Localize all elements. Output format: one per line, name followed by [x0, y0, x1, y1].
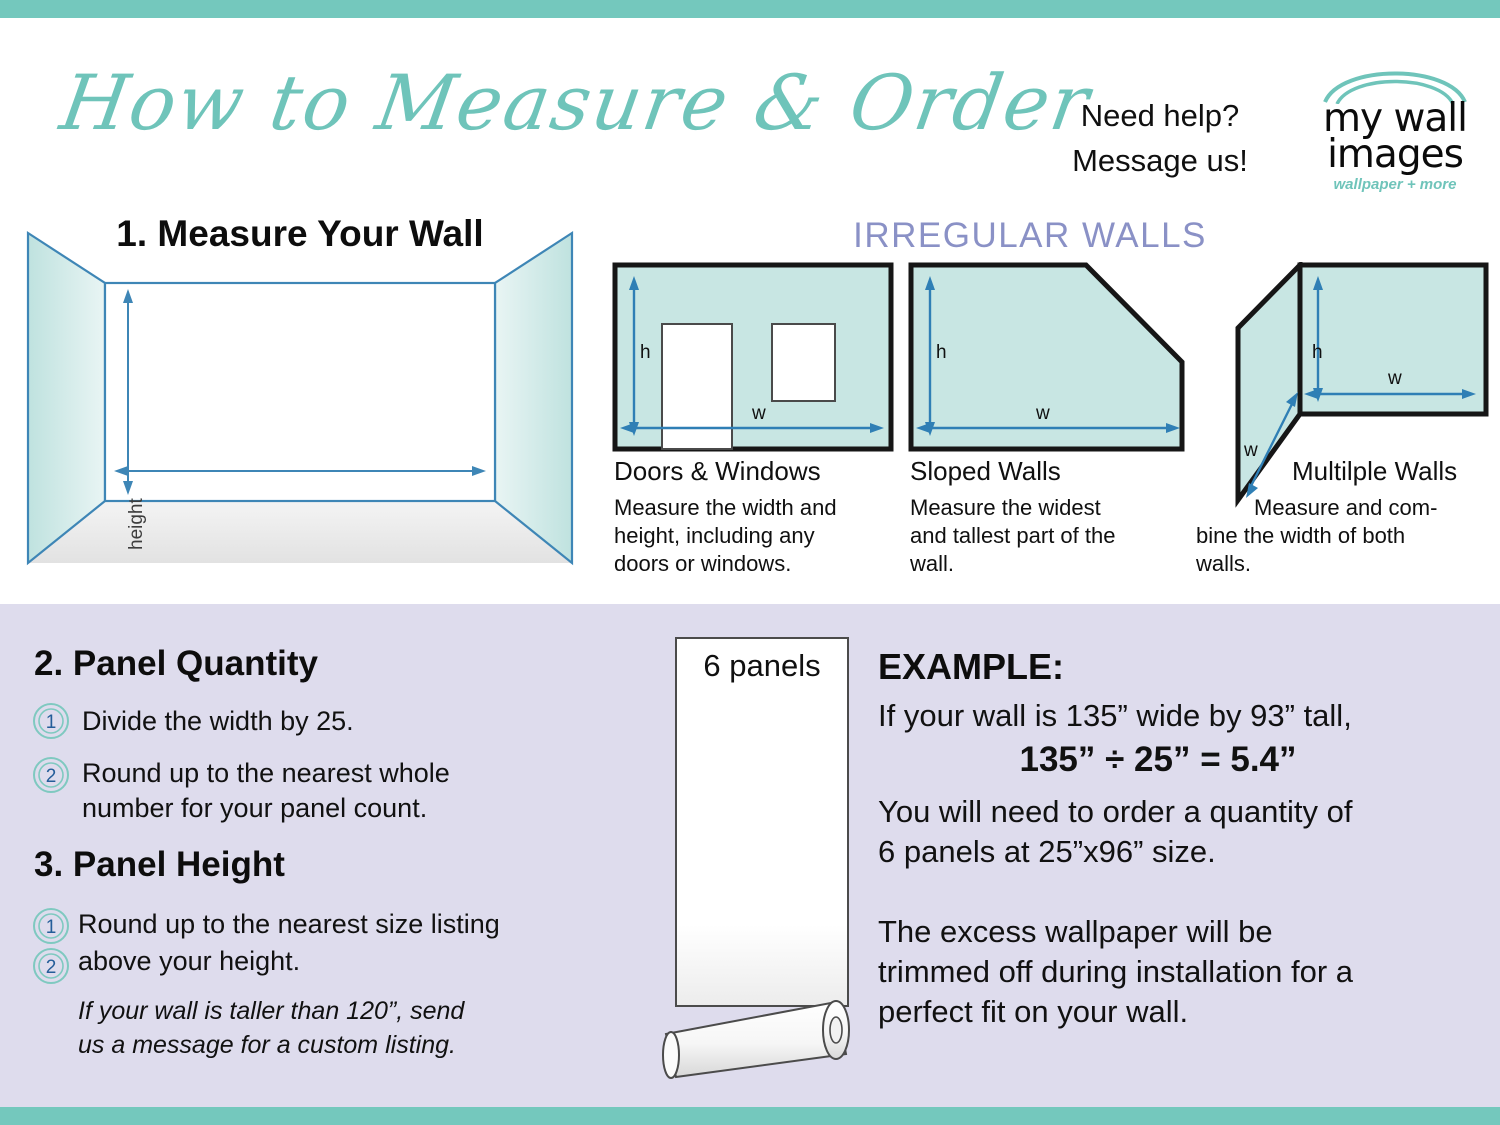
need-help-line-1: Need help? [1040, 93, 1280, 138]
irregular-item-sloped-walls: h w Sloped Walls Measure the widest and … [908, 262, 1190, 457]
svg-text:2: 2 [46, 766, 57, 787]
doors-windows-desc-line-3: doors or windows. [614, 550, 896, 578]
svg-text:2: 2 [46, 957, 57, 978]
step-number-circle-icon: 1 [32, 702, 70, 740]
doors-windows-desc-line-2: height, including any [614, 522, 896, 550]
irregular-walls-heading: IRREGULAR WALLS [700, 216, 1360, 256]
roll-panel-count-label: 6 panels [672, 648, 852, 684]
wallpaper-roll-graphic [660, 634, 880, 1079]
multiple-walls-name: Multilple Walls [1292, 456, 1457, 487]
multiple-walls-desc-line-3: walls. [1196, 550, 1500, 578]
step-number-circle-icon: 2 [32, 756, 70, 794]
doors-windows-w-label: w [752, 403, 766, 425]
irregular-item-multiple-walls: h w w Multilple Walls Measure and com- b… [1196, 262, 1496, 517]
sloped-walls-desc: Measure the widest and tallest part of t… [910, 494, 1200, 578]
room-perspective-diagram [8, 223, 592, 573]
panel-height-step-1: Round up to the nearest size listing [78, 907, 638, 942]
brand-logo: my wall images wallpaper + more [1305, 60, 1485, 208]
multiple-walls-desc: Measure and com- bine the width of both … [1254, 494, 1500, 578]
measure-wall-section: 1. Measure Your Wall height width Measur… [0, 205, 600, 600]
example-line-1: If your wall is 135” wide by 93” tall, [878, 696, 1478, 736]
doors-windows-name: Doors & Windows [614, 456, 821, 487]
panel-height-note-line-1: If your wall is taller than 120”, send [78, 994, 638, 1028]
need-help-text: Need help? Message us! [1040, 93, 1280, 183]
section1-title: 1. Measure Your Wall [0, 213, 600, 255]
step-number-circle-icon: 2 [32, 947, 70, 985]
multiple-walls-w-side-label: w [1244, 440, 1258, 462]
sloped-walls-w-label: w [1036, 403, 1050, 425]
panel-quantity-step-2-line-2: number for your panel count. [82, 791, 622, 826]
page-title: How to Measure & Order [55, 58, 1029, 147]
doors-windows-desc-line-1: Measure the width and [614, 494, 896, 522]
lower-panel: 2. Panel Quantity 1 Divide the width by … [0, 604, 1500, 1107]
step-number-circle-icon: 1 [32, 907, 70, 945]
top-accent-bar [0, 0, 1500, 18]
panel-height-note: If your wall is taller than 120”, send u… [78, 994, 638, 1062]
panel-quantity-step-2-line-1: Round up to the nearest whole [82, 756, 622, 791]
doors-windows-h-label: h [640, 342, 651, 364]
example-line-3: 6 panels at 25”x96” size. [878, 832, 1478, 872]
multiple-walls-w-front-label: w [1388, 368, 1402, 390]
multiple-walls-desc-line-1: Measure and com- [1254, 494, 1500, 522]
multiple-walls-desc-line-2: bine the width of both [1196, 522, 1500, 550]
sloped-walls-h-label: h [936, 342, 947, 364]
irregular-item-doors-windows: h w Doors & Windows Measure the width an… [612, 262, 894, 457]
example-line-6: perfect fit on your wall. [878, 992, 1478, 1032]
doors-windows-desc: Measure the width and height, including … [614, 494, 896, 578]
example-line-2: You will need to order a quantity of [878, 792, 1478, 832]
sloped-walls-desc-line-1: Measure the widest [910, 494, 1200, 522]
panel-height-step-2: above your height. [78, 944, 638, 979]
example-equation: 135” ÷ 25” = 5.4” [878, 740, 1438, 780]
example-title: EXAMPLE: [878, 646, 1064, 688]
logo-word-2: images [1305, 132, 1485, 177]
panel-quantity-step-1: Divide the width by 25. [82, 704, 602, 739]
sloped-walls-name: Sloped Walls [910, 456, 1061, 487]
sloped-walls-desc-line-3: wall. [910, 550, 1200, 578]
panel-quantity-heading: 2. Panel Quantity [34, 644, 318, 684]
panel-height-note-line-2: us a message for a custom listing. [78, 1028, 638, 1062]
logo-tagline: wallpaper + more [1305, 176, 1485, 193]
svg-text:1: 1 [46, 917, 57, 938]
header: How to Measure & Order Need help? Messag… [0, 18, 1500, 205]
bottom-accent-bar [0, 1107, 1500, 1125]
multiple-walls-h-label: h [1312, 342, 1323, 364]
need-help-line-2: Message us! [1040, 138, 1280, 183]
example-line-4: The excess wallpaper will be [878, 912, 1478, 952]
svg-text:1: 1 [46, 712, 57, 733]
sloped-walls-desc-line-2: and tallest part of the [910, 522, 1200, 550]
panel-height-heading: 3. Panel Height [34, 845, 285, 885]
height-label: height [126, 498, 148, 550]
example-line-5: trimmed off during installation for a [878, 952, 1478, 992]
panel-quantity-step-2: Round up to the nearest whole number for… [82, 756, 622, 826]
